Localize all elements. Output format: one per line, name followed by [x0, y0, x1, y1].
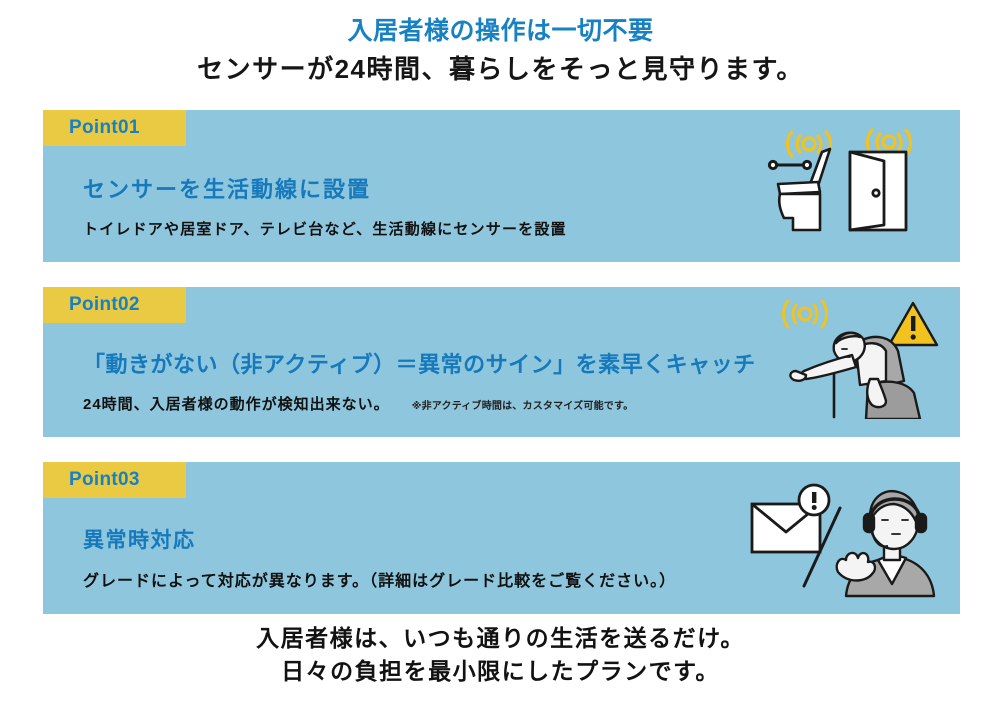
point-badge-label: Point01 [69, 117, 140, 139]
toilet-bowl [779, 194, 820, 230]
page-header: 入居者様の操作は一切不要 センサーが24時間、暮らしをそっと見守ります。 [0, 0, 1001, 87]
toilet-and-door-illustration [760, 120, 940, 240]
warning-triangle-icon [889, 303, 937, 345]
point-badge-label: Point03 [69, 469, 140, 491]
point-card-03: Point03 異常時対応 グレードによって対応が異なります。（詳細はグレード比… [43, 462, 960, 614]
page-subtitle: センサーが24時間、暮らしをそっと見守ります。 [0, 52, 1001, 87]
point-badge-03: Point03 [43, 462, 186, 498]
alert-mail-and-operator-illustration [742, 468, 942, 598]
footer-line-2: 日々の負担を最小限にしたプランです。 [0, 655, 1001, 688]
point-badge-01: Point01 [43, 110, 186, 146]
fallen-elderly-person-illustration [774, 289, 944, 419]
operator-with-headset [837, 491, 934, 596]
points-list: Point01 センサーを生活動線に設置 トイレドアや居室ドア、テレビ台など、生… [43, 110, 960, 639]
page-title: 入居者様の操作は一切不要 [0, 16, 1001, 46]
sensor-wave-icon [784, 301, 827, 327]
footer-line-1: 入居者様は、いつも通りの生活を送るだけ。 [0, 622, 1001, 655]
toilet-seat [778, 182, 820, 194]
point-description-02: 24時間、入居者様の動作が検知出来ない。 [83, 393, 390, 414]
point-note-02: ※非アクティブ時間は、カスタマイズ可能です。 [412, 397, 634, 412]
point-card-02: Point02 「動きがない（非アクティブ）＝異常のサイン」を素早くキャッチ 2… [43, 287, 960, 437]
envelope-alert-icon [752, 485, 829, 552]
handrail-icon [769, 161, 810, 168]
page-footer: 入居者様は、いつも通りの生活を送るだけ。 日々の負担を最小限にしたプランです。 [0, 622, 1001, 689]
point-badge-02: Point02 [43, 287, 186, 323]
open-door-icon [850, 152, 906, 230]
point-badge-label: Point02 [69, 294, 140, 316]
point-card-01: Point01 センサーを生活動線に設置 トイレドアや居室ドア、テレビ台など、生… [43, 110, 960, 262]
